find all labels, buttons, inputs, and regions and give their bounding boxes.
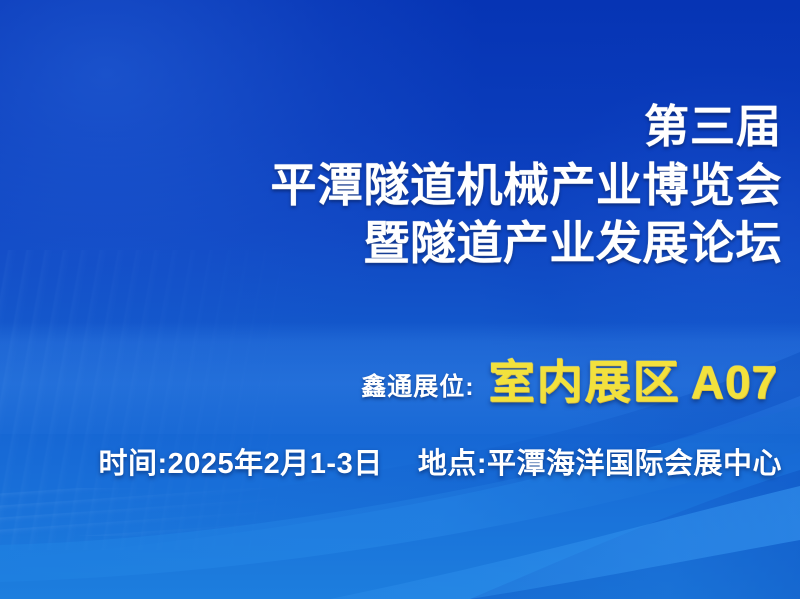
event-date: 时间:2025年2月1-3日 [98, 448, 382, 480]
booth-label: 鑫通展位: [361, 367, 474, 403]
event-venue: 地点:平潭海洋国际会展中心 [418, 448, 782, 480]
booth-code: A07 [691, 356, 778, 408]
booth-area: 室内展区 [489, 356, 681, 408]
info-row: 时间:2025年2月1-3日 地点:平潭海洋国际会展中心 [0, 440, 782, 482]
booth-row: 鑫通展位: 室内展区A07 [0, 346, 778, 412]
booth-value: 室内展区A07 [489, 346, 778, 412]
title-line-subtitle: 暨隧道产业发展论坛 [0, 220, 782, 266]
title-line-edition: 第三届 [0, 104, 782, 149]
title-line-main: 平潭隧道机械产业博览会 [0, 162, 782, 208]
poster-title-block: 第三届 平潭隧道机械产业博览会 暨隧道产业发展论坛 [0, 104, 782, 266]
exhibition-poster: 第三届 平潭隧道机械产业博览会 暨隧道产业发展论坛 鑫通展位: 室内展区A07 … [0, 0, 800, 599]
poster-content: 第三届 平潭隧道机械产业博览会 暨隧道产业发展论坛 鑫通展位: 室内展区A07 … [0, 0, 800, 599]
